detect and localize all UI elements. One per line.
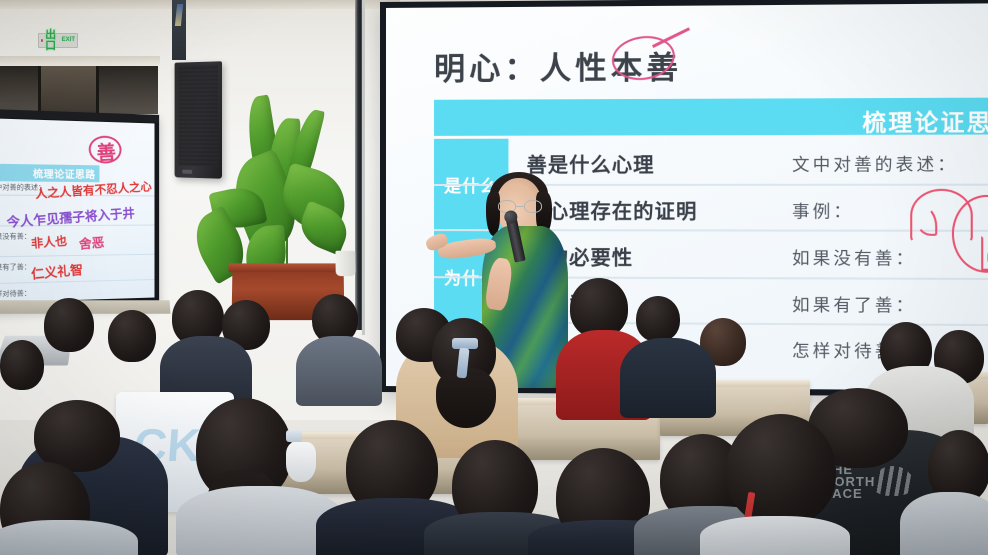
exit-sign-indicator [41,39,43,42]
face-mask [286,442,316,482]
hair-tie [286,430,302,442]
student-head [570,278,628,338]
student-head [44,298,94,352]
student-head [636,296,680,342]
wall-speaker [175,61,222,178]
student-body [0,520,138,555]
wall-soffit [0,56,160,66]
exit-sign: 出口 EXIT [38,33,78,48]
cabinet-glare [41,66,96,114]
pot-rim [228,263,347,272]
monitor-screen: 梳理论证思路 文中对善的表述： 如果没有善： 如果有了善： 怎样对待善： 善 人… [0,118,154,302]
table-cell-right: 文中对善的表述： [792,150,958,176]
table-cell-right: 事例： [792,197,854,222]
student-body [296,336,382,406]
glasses-icon [498,200,542,213]
exit-sign-sublabel: EXIT [62,35,75,46]
mirror-ink-3: 舍恶 [78,232,105,253]
mirror-ink-4: 仁义礼智 [30,259,83,283]
classroom-photo: 出口 EXIT 梳理论证思路 文中对善的表述： 如果没有善： 如果有了善： 怎样… [0,0,988,555]
wall-top-band [0,0,400,9]
student-body [700,516,850,555]
table-cell-middle: 善是什么心理 [527,148,655,177]
cabinet-divider [96,66,99,114]
mirror-ink-glyph: 善 [96,136,117,166]
wall-cabinet-recess [0,66,158,114]
speaker-badge [182,170,192,174]
mirror-display-monitor[interactable]: 梳理论证思路 文中对善的表述： 如果没有善： 如果有了善： 怎样对待善： 善 人… [0,109,159,311]
student-head [726,414,836,526]
mirror-label-4: 怎样对待善： [0,288,31,299]
speaker-grill [178,64,218,166]
exit-sign-label: 出口 [45,30,59,52]
student-body [620,338,716,418]
mirror-label-2: 如果没有善： [0,231,31,242]
table-cell-right: 如果没有善： [792,244,916,270]
table-header-text: 梳理论证思路 [862,103,988,138]
mirror-ink-2: 非人也 [30,232,67,252]
mirror-header-band: 梳理论证思路 [0,163,99,182]
table-header-band: 梳理论证思路 [434,98,988,136]
mirror-header-text: 梳理论证思路 [33,165,96,181]
student-head [108,310,156,362]
mirror-label-3: 如果有了善： [0,262,31,273]
student-head [0,340,44,390]
student-body [900,492,988,555]
cabinet-divider [38,66,41,114]
wall-corner-edge [362,0,365,335]
north-face-logo-icon [872,466,914,496]
table-cell-right: 如果有了善： [792,291,916,317]
mirror-ink-1: 今人乍见孺子将入于井 [6,203,135,231]
paper-cup [335,251,355,276]
